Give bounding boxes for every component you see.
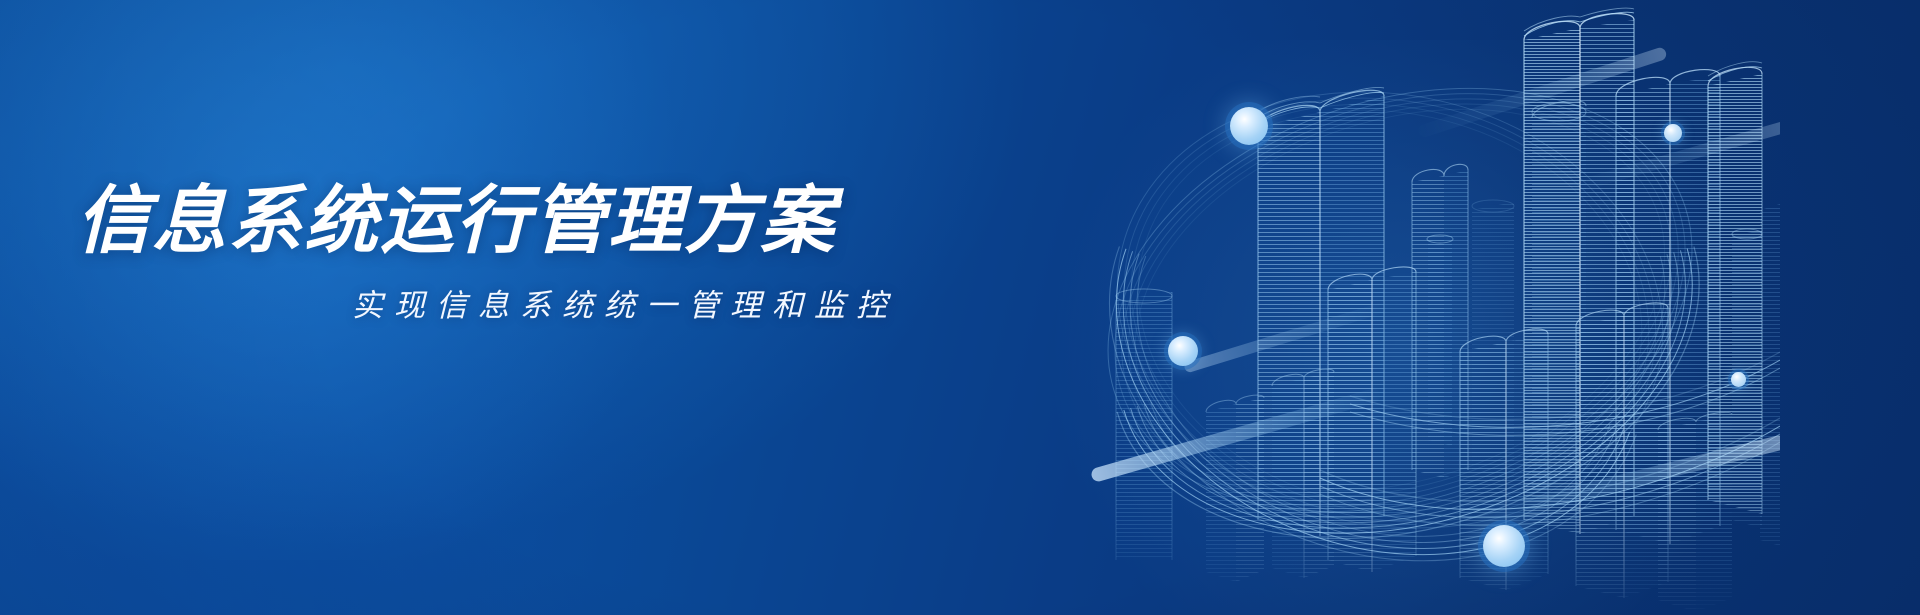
building-5 [1532, 101, 1586, 512]
page-banner: 信息系统运行管理方案 实现信息系统统一管理和监控 [0, 0, 1920, 615]
building-11 [1272, 369, 1334, 578]
glow-node-top-left [1230, 107, 1268, 145]
city-buildings [1116, 8, 1780, 612]
wireframe-city-illustration [1020, 0, 1780, 615]
building-16 [1472, 200, 1514, 480]
banner-text-block: 信息系统运行管理方案 实现信息系统统一管理和监控 [76, 182, 956, 325]
building-14 [1658, 412, 1732, 612]
building-1 [1258, 87, 1384, 536]
building-15 [1206, 395, 1264, 582]
building-3 [1427, 235, 1453, 446]
glow-node-right-upper [1664, 124, 1682, 142]
building-7 [1708, 62, 1762, 514]
orbit-rings-back [1053, 17, 1747, 583]
building-8 [1328, 267, 1416, 572]
orbit-rings-front [1047, 246, 1780, 615]
building-10 [1576, 303, 1668, 598]
building-4 [1524, 8, 1634, 534]
light-streaks [1090, 46, 1780, 521]
building-2 [1412, 164, 1468, 478]
glow-node-mid-left [1168, 336, 1198, 366]
banner-subtitle: 实现信息系统统一管理和监控 [76, 280, 956, 325]
banner-title: 信息系统运行管理方案 [76, 182, 956, 260]
glow-node-bottom [1483, 525, 1525, 567]
glow-node-right-lower [1731, 372, 1746, 387]
building-13 [1760, 204, 1780, 546]
